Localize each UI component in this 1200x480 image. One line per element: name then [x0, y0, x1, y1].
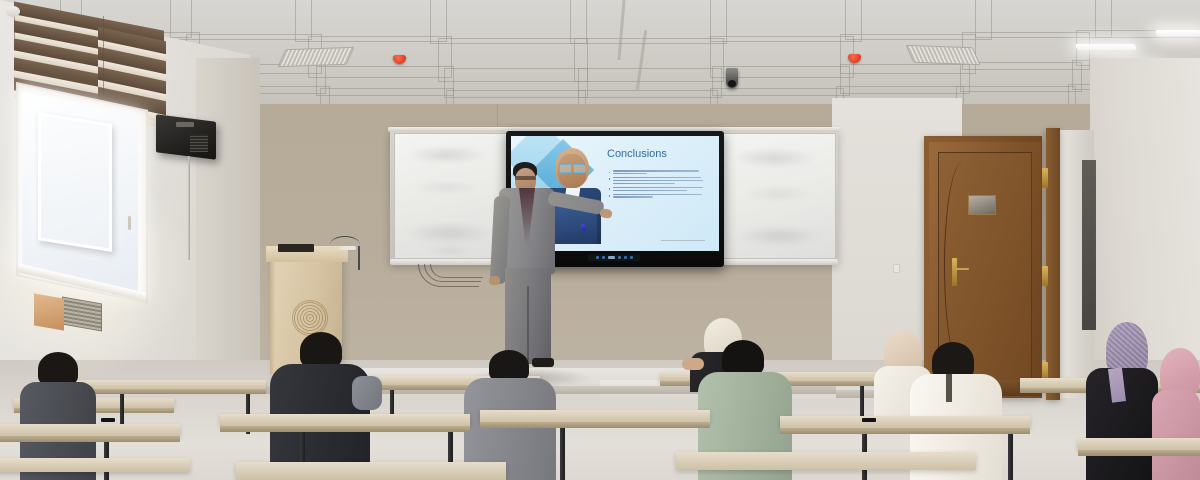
display-control-bar[interactable]	[588, 254, 640, 261]
display-button-4[interactable]	[618, 256, 621, 259]
presenter-trouser-seam	[527, 286, 529, 364]
student-9-body	[1152, 390, 1200, 480]
display-button-5[interactable]	[624, 256, 627, 259]
door-lever[interactable]	[955, 268, 969, 270]
microphone[interactable]	[330, 236, 360, 253]
student-4-arm	[682, 358, 704, 370]
ceiling-light-3	[1075, 44, 1137, 50]
blind-bracket	[6, 6, 20, 17]
student-7-strap	[946, 374, 952, 402]
slide-bullet-4	[609, 194, 707, 198]
security-camera-icon	[726, 68, 738, 88]
slide-bullet-1	[609, 170, 707, 174]
door-plaque	[968, 195, 996, 215]
slide-bullet-2	[609, 177, 707, 184]
whiteboard-left[interactable]	[394, 133, 508, 259]
slide-title: Conclusions	[607, 148, 667, 160]
ceiling-light-5	[1155, 30, 1200, 36]
desk-row-3-left	[66, 380, 266, 389]
student-5-hair	[722, 340, 764, 376]
presenter-glasses-icon	[515, 176, 536, 180]
speaker-label	[176, 122, 194, 127]
desk-row-front-right	[676, 452, 976, 470]
display-button-3[interactable]	[608, 256, 615, 259]
lectern-left-edge	[270, 262, 275, 374]
desk-row-front-center	[236, 462, 506, 480]
window-exterior-view	[34, 293, 64, 330]
whiteboard-right[interactable]	[722, 133, 836, 259]
door-frame-right	[1046, 128, 1060, 400]
door-handle[interactable]	[952, 258, 957, 286]
student-1-hair	[38, 352, 78, 386]
speaker-mount-pole	[188, 156, 190, 260]
door-hinge-top	[1042, 168, 1048, 188]
lecture-hall-photo: Conclusions	[0, 0, 1200, 480]
slide-bullet-3	[609, 187, 707, 191]
desk-row-2-far-right	[1078, 438, 1200, 450]
speaker-grille	[190, 134, 208, 152]
microphone-stem	[358, 246, 360, 270]
presenter-shoe-right	[532, 358, 554, 367]
student-2-shoulder	[352, 376, 382, 410]
phone-on-desk-left[interactable]	[101, 418, 115, 422]
desk-row-2-right	[780, 416, 1030, 428]
display-button-2[interactable]	[602, 256, 605, 259]
wall-outlet[interactable]	[893, 264, 900, 273]
desk-row-2-left	[0, 424, 180, 436]
window-open-pane[interactable]	[38, 112, 112, 252]
door-decorative-curve	[944, 162, 981, 370]
desk-row-2-center-left	[220, 414, 470, 426]
ceiling-vent-left	[277, 47, 354, 67]
presenter-other-hand	[489, 276, 500, 285]
student-2-hair	[300, 332, 342, 368]
display-button-1[interactable]	[596, 256, 599, 259]
slide-bullet-list	[609, 170, 707, 200]
lectern-emblem	[292, 300, 328, 336]
ceiling-vent-right	[905, 45, 980, 65]
slide-footer-line	[661, 240, 705, 241]
desk-row-2-center	[480, 410, 710, 422]
display-button-6[interactable]	[630, 256, 633, 259]
left-wall-return	[196, 58, 260, 408]
desk-row-front-left	[0, 458, 190, 472]
hallway-shadow	[1082, 160, 1096, 330]
door-hinge-mid	[1042, 266, 1048, 286]
lectern-reading-slot	[278, 244, 314, 252]
window-handle[interactable]	[128, 216, 131, 230]
lectern-shelf	[340, 246, 356, 250]
phone-on-desk-right[interactable]	[862, 418, 876, 422]
